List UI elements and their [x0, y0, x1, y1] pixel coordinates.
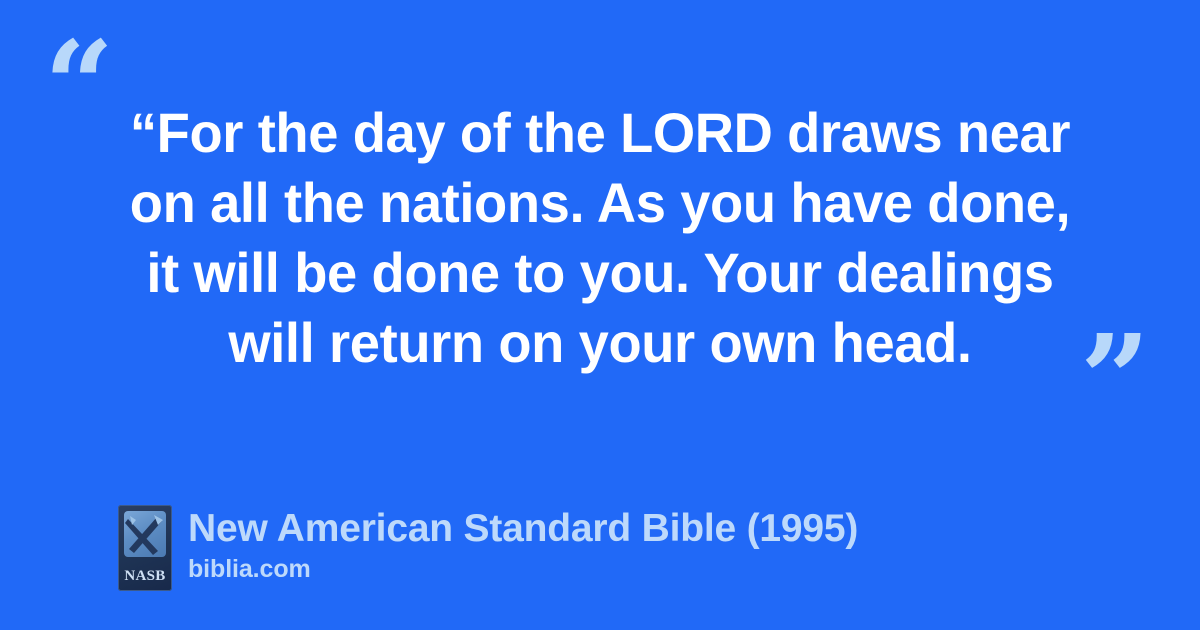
attribution-text: New American Standard Bible (1995) bibli…	[188, 505, 858, 584]
quote-text-block: “For the day of the LORD draws near on a…	[100, 98, 1100, 378]
nasb-logo-icon: NASB	[118, 505, 172, 591]
logo-panel	[124, 511, 166, 557]
bible-version-title: New American Standard Bible (1995)	[188, 507, 858, 551]
source-url[interactable]: biblia.com	[188, 554, 858, 584]
quote-line: will return on your own head.	[115, 308, 1085, 378]
attribution: NASB New American Standard Bible (1995) …	[118, 505, 858, 591]
quote-card: “ “For the day of the LORD draws near on…	[0, 0, 1200, 630]
quote-line: on all the nations. As you have done,	[115, 168, 1085, 238]
quote-line: it will be done to you. Your dealings	[115, 238, 1085, 308]
decorative-close-quote-icon: ”	[1080, 318, 1148, 440]
logo-wordmark: NASB	[118, 568, 172, 585]
quote-line: “For the day of the LORD draws near	[115, 98, 1085, 168]
